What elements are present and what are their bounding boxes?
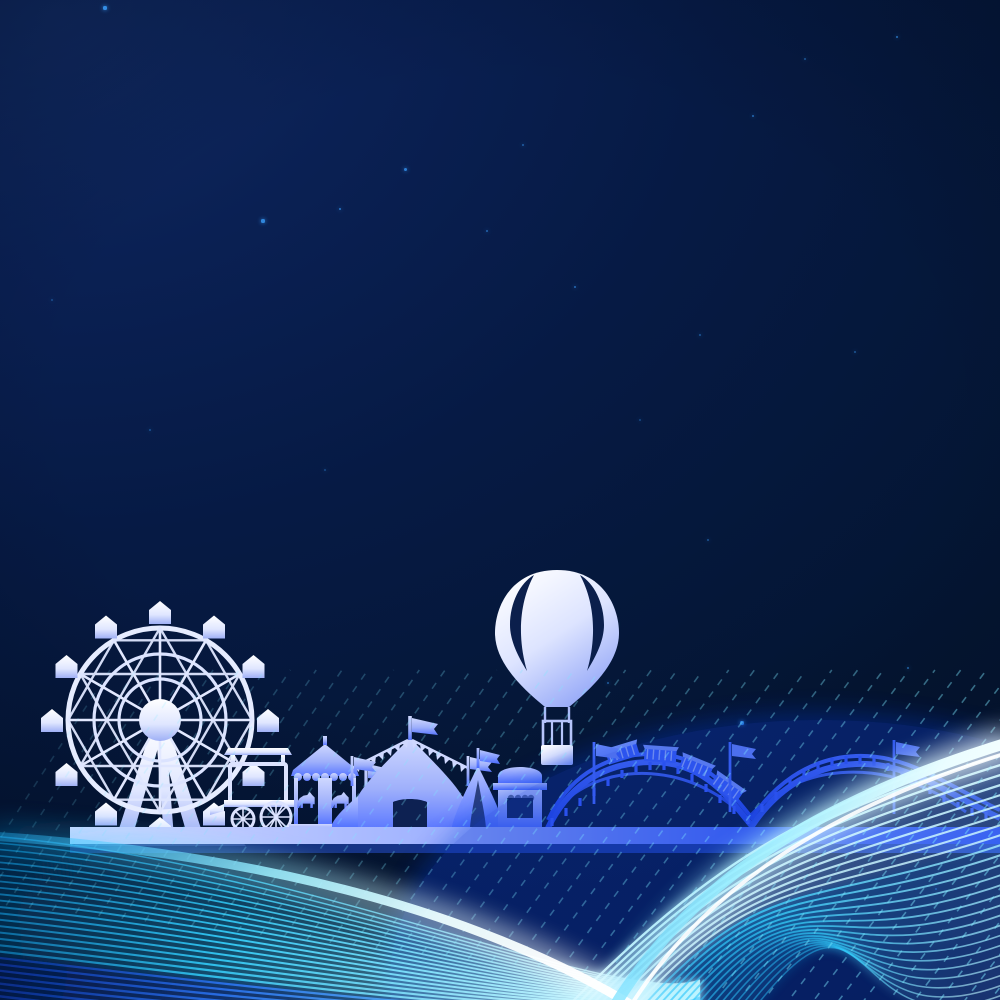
wave-mesh-diagonal [6,670,161,905]
glow-wave [0,0,1000,1000]
wave-mesh-diagonal [52,670,213,911]
wave-mesh-diagonal [0,670,136,903]
wave-mesh-diagonal [237,670,419,932]
wave-mesh-diagonal [145,670,316,921]
wave-mesh-diagonal [0,670,110,900]
banner-root [0,0,1000,1000]
